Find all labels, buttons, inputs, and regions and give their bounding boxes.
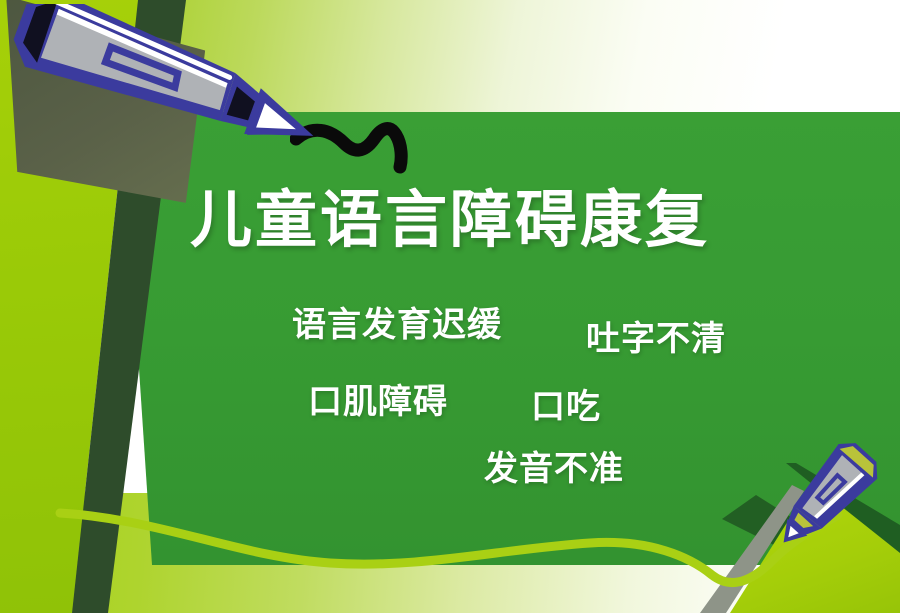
fountain-pen-icon (0, 4, 334, 184)
symptom-label-inaccurate-pronunciation: 发音不准 (484, 441, 624, 490)
symptom-label-unclear-articulation: 吐字不清 (586, 311, 726, 360)
fountain-pen-icon (760, 435, 890, 555)
symptom-label-language-delay: 语言发育迟缓 (292, 297, 502, 346)
symptom-label-stuttering: 口吃 (531, 379, 601, 428)
poster-canvas: 儿童语言障碍康复 语言发育迟缓 吐字不清 口肌障碍 口吃 发音不准 (0, 0, 900, 613)
page-title: 儿童语言障碍康复 (0, 184, 900, 255)
symptom-label-oral-motor-disorder: 口肌障碍 (308, 374, 448, 423)
